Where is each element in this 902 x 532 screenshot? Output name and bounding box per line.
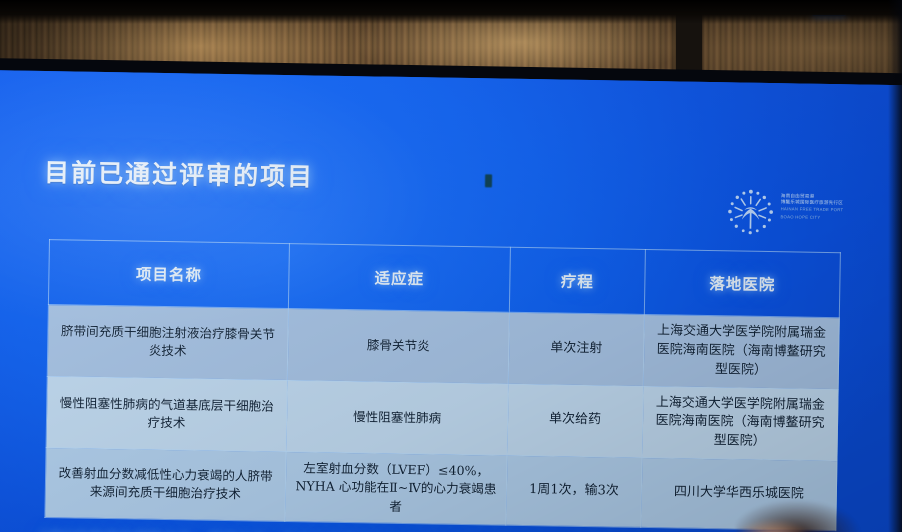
cell-project-name: 脐带间充质干细胞注射液治疗膝骨关节炎技术 (47, 305, 288, 381)
column-header-hospital: 落地医院 (644, 249, 840, 317)
audience-silhouette (736, 478, 884, 532)
cell-project-name: 慢性阻塞性肺病的气道基底层干细胞治疗技术 (46, 376, 287, 452)
cell-indication: 慢性阻塞性肺病 (286, 380, 508, 455)
logo-en-line1: HAINAN FREE TRADE PORT (781, 207, 875, 214)
screen-surface: 目前已通过评审的项目 (0, 70, 902, 532)
presentation-slide: 目前已通过评审的项目 (0, 70, 902, 532)
screenshot-stage: 目前已通过评审的项目 (0, 0, 902, 532)
screen-artifact (485, 174, 492, 187)
column-header-indication: 适应症 (288, 244, 510, 313)
page-title: 目前已通过评审的项目 (44, 153, 315, 193)
column-header-course: 疗程 (509, 247, 645, 314)
cell-course: 1周1次，输3次 (506, 455, 642, 527)
hand-silhouette (730, 506, 822, 532)
table-row: 慢性阻塞性肺病的气道基底层干细胞治疗技术 慢性阻塞性肺病 单次给药 上海交通大学… (46, 376, 838, 461)
column-header-project-name: 项目名称 (48, 240, 289, 309)
projection-screen: 目前已通过评审的项目 (0, 58, 902, 532)
organization-logo: 海南自由贸易港 博鳌乐城国际医疗旅游先行区 HAINAN FREE TRADE … (724, 184, 875, 244)
palm-burst-icon (724, 186, 777, 239)
logo-text: 海南自由贸易港 博鳌乐城国际医疗旅游先行区 HAINAN FREE TRADE … (780, 193, 874, 221)
cell-indication: 膝骨关节炎 (287, 309, 509, 384)
cell-project-name: 改善射血分数减低性心力衰竭的人脐带来源间充质干细胞治疗技术 (45, 448, 286, 522)
cell-hospital: 上海交通大学医学院附属瑞金医院海南医院（海南博鳌研究型医院） (642, 386, 838, 461)
approved-projects-table: 项目名称 适应症 疗程 落地医院 脐带间充质干细胞注射液治疗膝骨关节炎技术 膝骨… (44, 239, 841, 531)
right-edge-shadow (888, 0, 902, 532)
logo-cn-line2: 博鳌乐城国际医疗旅游先行区 (781, 199, 875, 206)
cell-course: 单次注射 (508, 312, 644, 386)
table-row: 脐带间充质干细胞注射液治疗膝骨关节炎技术 膝骨关节炎 单次注射 上海交通大学医学… (47, 305, 839, 390)
cell-course: 单次给药 (507, 384, 643, 458)
ceiling-shadow (0, 0, 902, 24)
cell-indication: 左室射血分数（LVEF）≤40%，NYHA 心功能在Ⅱ~Ⅳ的心力衰竭患者 (285, 452, 507, 525)
table-row: 改善射血分数减低性心力衰竭的人脐带来源间充质干细胞治疗技术 左室射血分数（LVE… (45, 448, 837, 531)
logo-en-line2: BOAO HOPE CITY (780, 214, 874, 221)
cell-hospital: 上海交通大学医学院附属瑞金医院海南医院（海南博鳌研究型医院） (643, 314, 839, 389)
